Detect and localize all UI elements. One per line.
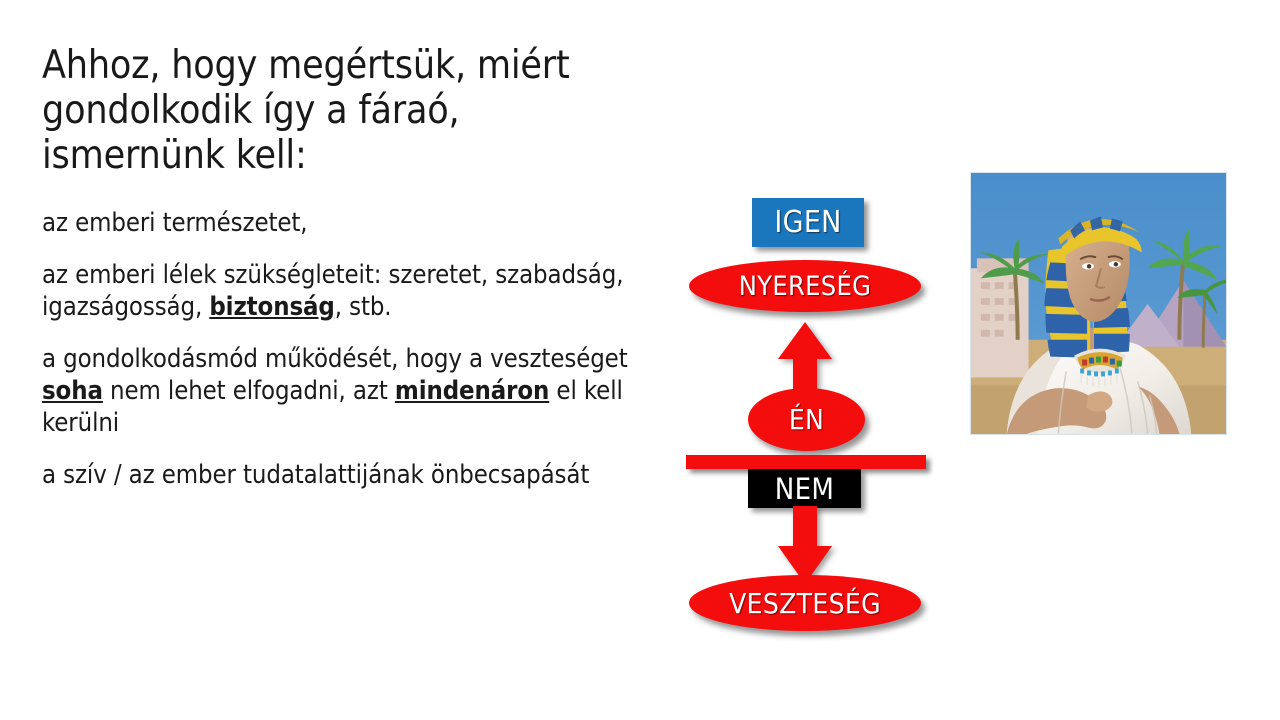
bullet-paragraph-4: a szív / az ember tudatalattijának önbec… — [42, 459, 642, 491]
diagram-node-veszteseg: VESZTESÉG — [689, 575, 921, 631]
paragraph-text: , stb. — [335, 292, 392, 322]
paragraph-text: az emberi természetet, — [42, 208, 307, 238]
diagram-node-nyereseg: NYERESÉG — [689, 260, 921, 312]
paragraph-text: nem lehet elfogadni, azt — [103, 376, 395, 406]
bullet-paragraph-2: az emberi lélek szükségleteit: szeretet,… — [42, 259, 642, 323]
diagram-node-igen: IGEN — [752, 198, 864, 247]
emphasis-soha: soha — [42, 376, 103, 406]
text-column: Ahhoz, hogy megértsük, miért gondolkodik… — [42, 44, 642, 491]
arrow-up-icon — [766, 322, 844, 394]
bullet-paragraph-1: az emberi természetet, — [42, 207, 642, 239]
emphasis-mindenaron: mindenáron — [395, 376, 549, 406]
slide-canvas: Ahhoz, hogy megértsük, miért gondolkodik… — [0, 0, 1280, 720]
paragraph-text: a gondolkodásmód működését, hogy a veszt… — [42, 344, 628, 374]
pharaoh-illustration — [971, 173, 1226, 434]
arrow-down-icon — [766, 506, 844, 584]
pharaoh-portrait — [970, 172, 1227, 435]
diagram-node-nem: NEM — [748, 469, 861, 508]
diagram-node-en: ÉN — [748, 388, 865, 451]
gain-loss-decision-diagram: IGEN NYERESÉG ÉN NEM VESZTESÉG — [660, 170, 950, 650]
emphasis-biztonsag: biztonság — [209, 292, 334, 322]
diagram-barrier-bar — [686, 455, 926, 469]
bullet-paragraph-3: a gondolkodásmód működését, hogy a veszt… — [42, 343, 642, 439]
paragraph-text: a szív / az ember tudatalattijának önbec… — [42, 460, 589, 490]
page-title: Ahhoz, hogy megértsük, miért gondolkodik… — [42, 44, 642, 179]
